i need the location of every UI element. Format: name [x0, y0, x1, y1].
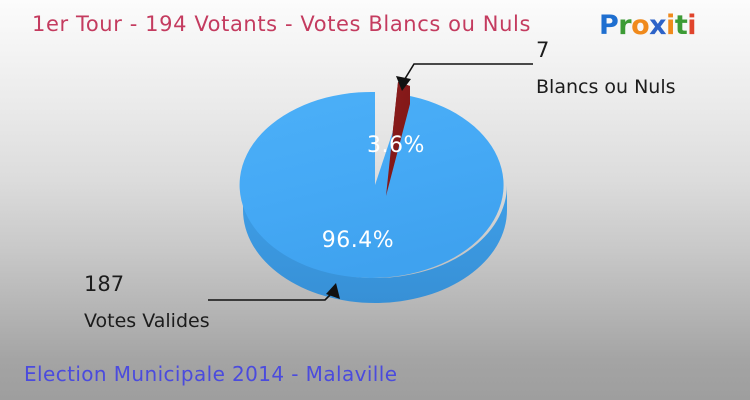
chart-canvas: 1er Tour - 194 Votants - Votes Blancs ou… [0, 0, 750, 400]
leader-line-blancs [396, 64, 533, 91]
footer-caption: Election Municipale 2014 - Malaville [24, 362, 397, 386]
callout-value-valides: 187 [84, 272, 124, 296]
callout-label-valides: Votes Valides [84, 310, 210, 332]
callout-label-blancs: Blancs ou Nuls [536, 76, 676, 98]
percent-label-valides: 96.4% [322, 228, 394, 253]
callout-value-blancs: 7 [536, 38, 549, 62]
percent-label-blancs: 3.6% [367, 133, 425, 158]
pie-chart-graphic: 96.4% 3.6% [0, 0, 750, 400]
